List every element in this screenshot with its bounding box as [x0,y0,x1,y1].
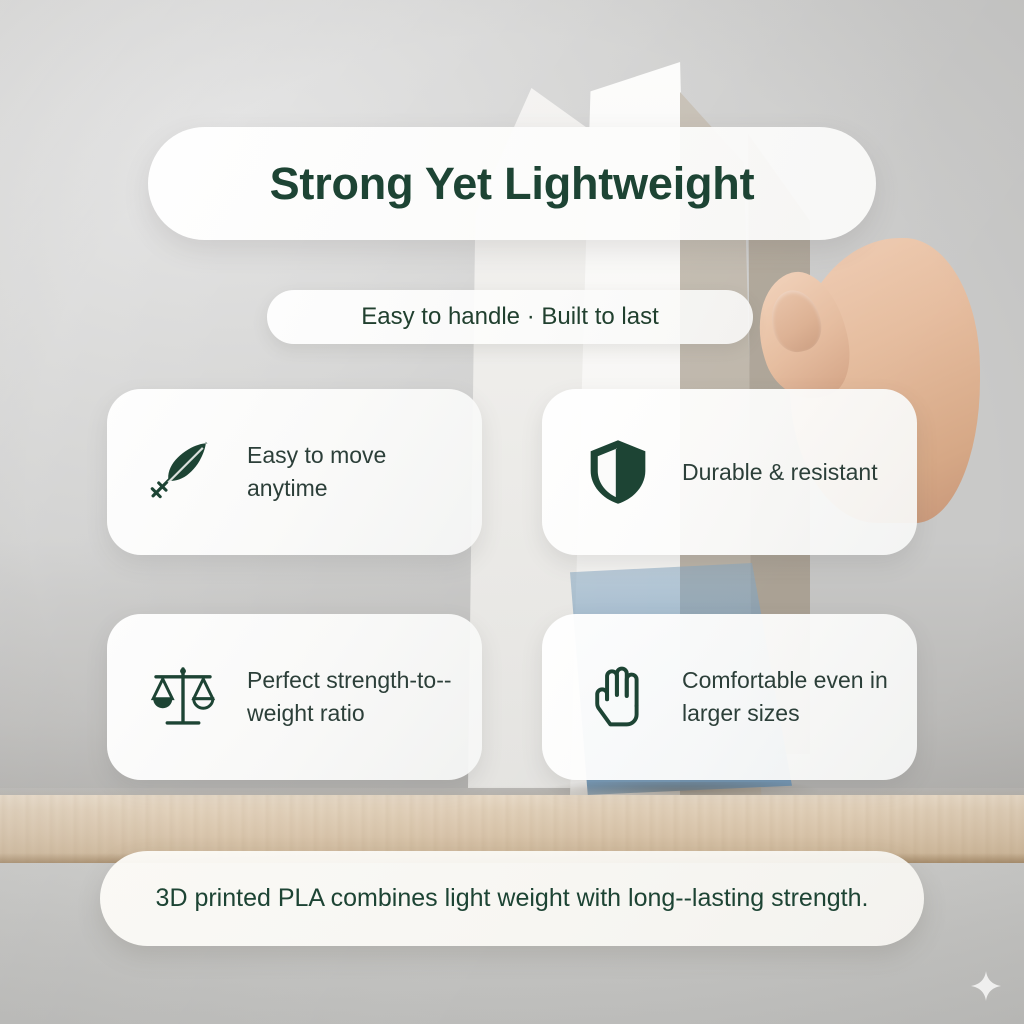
feature-label: Comfortable even in larger sizes [682,664,891,729]
footer-text: 3D printed PLA combines light weight wit… [156,881,869,916]
page-title: Strong Yet Lightweight [270,158,755,210]
shield-icon [580,434,656,510]
feature-card-easy-to-move[interactable]: Easy to move anytime [107,389,482,555]
sparkle-icon [971,971,1001,1001]
scales-icon [145,659,221,735]
feature-card-durable[interactable]: Durable & resistant [542,389,917,555]
feature-card-grid: Easy to move anytime Durable & resistant [107,389,917,780]
footer-banner: 3D printed PLA combines light weight wit… [100,851,924,946]
subtitle-banner: Easy to handle · Built to last [267,290,753,344]
feature-card-strength-ratio[interactable]: Perfect strength-to--weight ratio [107,614,482,780]
content-overlay: Strong Yet Lightweight Easy to handle · … [0,0,1024,1024]
poster-canvas: Strong Yet Lightweight Easy to handle · … [0,0,1024,1024]
feature-label: Perfect strength-to--weight ratio [247,664,456,729]
feature-label: Durable & resistant [682,456,878,489]
feature-label: Easy to move anytime [247,439,456,504]
page-subtitle: Easy to handle · Built to last [361,303,659,331]
title-banner: Strong Yet Lightweight [148,127,876,240]
open-hand-icon [580,659,656,735]
feather-icon [145,434,221,510]
feature-card-comfortable[interactable]: Comfortable even in larger sizes [542,614,917,780]
